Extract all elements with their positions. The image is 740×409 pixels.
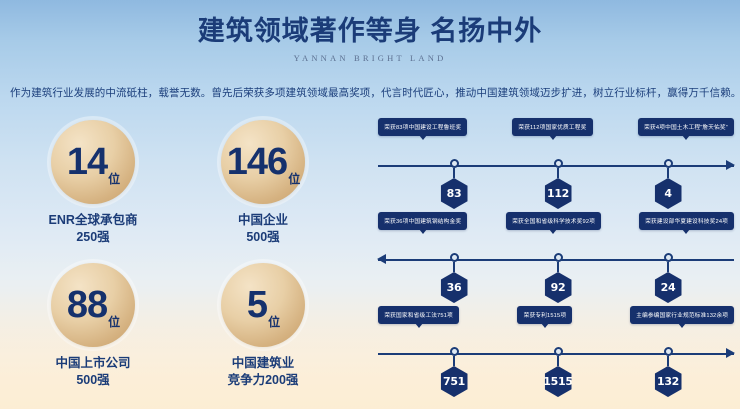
stat-label-line1: ENR全球承包商 <box>49 212 138 229</box>
stats-grid: 14 位 ENR全球承包商 250强 146 位 中国企业 500强 88 位 <box>8 120 348 405</box>
stat-label: 中国建筑业 竞争力200强 <box>228 355 299 389</box>
hex-badge-value: 1515 <box>543 375 572 388</box>
stat-label-line2: 500强 <box>238 229 288 246</box>
node-ring-icon <box>554 159 563 168</box>
hex-badge-value: 751 <box>443 375 465 388</box>
medal-circle: 146 位 <box>221 120 305 204</box>
stat-unit: 位 <box>288 137 300 221</box>
timeline-badge: 92 <box>534 253 582 303</box>
timeline-row: 荣获36项中国建筑钢结构金奖 荣获全国和省级科学技术奖92项 荣获建设部华夏建设… <box>378 212 734 306</box>
timeline-badge: 751 <box>430 347 478 397</box>
hex-badge-value: 132 <box>657 375 679 388</box>
medal-circle: 5 位 <box>221 263 305 347</box>
medal-circle: 88 位 <box>51 263 135 347</box>
node-stem <box>453 262 455 272</box>
node-ring-icon <box>450 253 459 262</box>
hex-badge-value: 36 <box>447 281 462 294</box>
timeline-badge: 112 <box>534 159 582 209</box>
node-ring-icon <box>664 253 673 262</box>
node-ring-icon <box>450 347 459 356</box>
node-stem <box>557 168 559 178</box>
hex-badge-value: 92 <box>551 281 566 294</box>
hex-badge-value: 112 <box>547 187 569 200</box>
stat-label-line2: 竞争力200强 <box>228 372 299 389</box>
node-ring-icon <box>554 253 563 262</box>
hex-badge: 1515 <box>545 366 572 397</box>
stat-label-line2: 500强 <box>55 372 130 389</box>
node-ring-icon <box>554 347 563 356</box>
node-ring-icon <box>450 159 459 168</box>
page-title: 建筑领域著作等身 名扬中外 <box>0 14 740 48</box>
timeline-badge: 1515 <box>534 347 582 397</box>
stat-number: 14 <box>67 120 107 204</box>
hex-badge-value: 83 <box>447 187 462 200</box>
stat-number: 88 <box>67 263 107 347</box>
node-ring-icon <box>664 347 673 356</box>
node-stem <box>557 356 559 366</box>
hex-badge-value: 24 <box>661 281 676 294</box>
page-header: 建筑领域著作等身 名扬中外 YANNAN BRIGHT LAND <box>0 14 740 63</box>
node-ring-icon <box>664 159 673 168</box>
hex-badge: 112 <box>545 178 572 209</box>
timeline-row: 荣获83项中国建设工程鲁班奖 荣获112项国家优质工程奖 荣获4项中国土木工程“… <box>378 118 734 212</box>
hex-badge: 24 <box>655 272 682 303</box>
stat-label-line1: 中国建筑业 <box>228 355 299 372</box>
page-subtitle: YANNAN BRIGHT LAND <box>0 53 740 63</box>
node-stem <box>667 262 669 272</box>
timeline-badges: 751 1515 132 <box>378 306 734 400</box>
hex-badge: 83 <box>441 178 468 209</box>
stat-unit: 位 <box>108 137 120 221</box>
stat-card: 88 位 中国上市公司 500强 <box>8 263 178 406</box>
hex-badge: 4 <box>655 178 682 209</box>
timeline-row: 荣获国家和省级工法751项 荣获专利1515项 主编参编国家行业规范标准132余… <box>378 306 734 400</box>
medal-circle: 14 位 <box>51 120 135 204</box>
timeline-badge: 24 <box>644 253 692 303</box>
awards-timeline: 荣获83项中国建设工程鲁班奖 荣获112项国家优质工程奖 荣获4项中国土木工程“… <box>378 118 734 400</box>
node-stem <box>667 168 669 178</box>
stat-unit: 位 <box>268 280 280 364</box>
hex-badge: 92 <box>545 272 572 303</box>
stat-number: 146 <box>227 120 287 204</box>
timeline-badges: 36 92 24 <box>378 212 734 306</box>
stat-label-line2: 250强 <box>49 229 138 246</box>
timeline-badge: 132 <box>644 347 692 397</box>
hex-badge: 36 <box>441 272 468 303</box>
stat-label: ENR全球承包商 250强 <box>49 212 138 246</box>
stat-number: 5 <box>247 263 267 347</box>
node-stem <box>453 168 455 178</box>
timeline-badge: 4 <box>644 159 692 209</box>
stat-label: 中国企业 500强 <box>238 212 288 246</box>
node-stem <box>557 262 559 272</box>
timeline-badge: 36 <box>430 253 478 303</box>
stat-label-line1: 中国企业 <box>238 212 288 229</box>
stat-unit: 位 <box>108 280 120 364</box>
timeline-badge: 83 <box>430 159 478 209</box>
hex-badge-value: 4 <box>664 187 671 200</box>
node-stem <box>667 356 669 366</box>
stat-card: 5 位 中国建筑业 竞争力200强 <box>178 263 348 406</box>
intro-paragraph: 作为建筑行业发展的中流砥柱，载誉无数。曾先后荣获多项建筑领域最高奖项，代言时代匠… <box>10 85 730 100</box>
hex-badge: 751 <box>441 366 468 397</box>
timeline-badges: 83 112 4 <box>378 118 734 212</box>
hex-badge: 132 <box>655 366 682 397</box>
stat-card: 14 位 ENR全球承包商 250强 <box>8 120 178 263</box>
stat-card: 146 位 中国企业 500强 <box>178 120 348 263</box>
achievements-banner: 建筑领域著作等身 名扬中外 YANNAN BRIGHT LAND 作为建筑行业发… <box>0 0 740 409</box>
node-stem <box>453 356 455 366</box>
